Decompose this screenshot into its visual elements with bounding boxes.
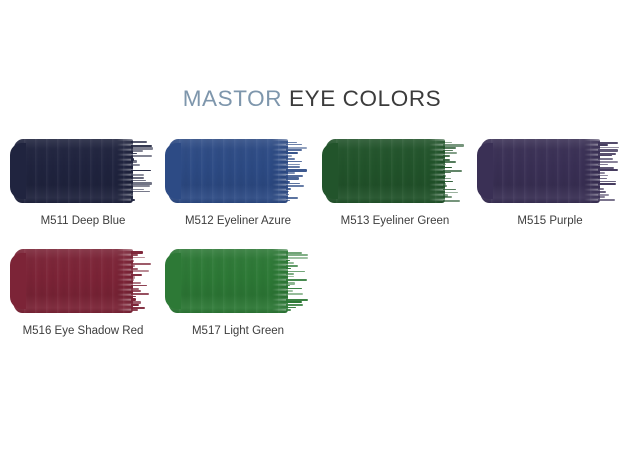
swatch-row: M516 Eye Shadow RedM517 Light Green: [0, 249, 624, 359]
paint-stroke-body: [325, 139, 445, 203]
swatch-label: M517 Light Green: [160, 325, 316, 339]
swatch-grid: M511 Deep BlueM512 Eyeliner AzureM513 Ey…: [0, 139, 624, 359]
paint-stroke-body: [480, 139, 600, 203]
brush-bristle-streaks: [286, 139, 310, 203]
paint-stroke-body: [168, 139, 288, 203]
paint-stroke: [13, 139, 153, 203]
paint-stroke: [13, 249, 153, 313]
paint-stroke-body: [168, 249, 288, 313]
color-chart-page: MASTOR EYE COLORS M511 Deep BlueM512 Eye…: [0, 0, 624, 460]
brush-bristle-streaks: [131, 139, 155, 203]
paint-stroke: [168, 249, 308, 313]
color-swatch-m513[interactable]: M513 Eyeliner Green: [317, 139, 473, 249]
swatch-label: M515 Purple: [472, 215, 624, 229]
swatch-row: M511 Deep BlueM512 Eyeliner AzureM513 Ey…: [0, 139, 624, 249]
paint-stroke: [325, 139, 465, 203]
swatch-label: M516 Eye Shadow Red: [5, 325, 161, 339]
paint-stroke: [480, 139, 620, 203]
paint-stroke-body: [13, 139, 133, 203]
brand-name: MASTOR: [183, 86, 282, 111]
title-suffix: EYE COLORS: [282, 86, 441, 111]
brush-bristle-streaks: [286, 249, 310, 313]
paint-stroke: [168, 139, 308, 203]
page-title: MASTOR EYE COLORS: [0, 88, 624, 111]
color-swatch-m511[interactable]: M511 Deep Blue: [5, 139, 161, 249]
color-swatch-m512[interactable]: M512 Eyeliner Azure: [160, 139, 316, 249]
swatch-label: M513 Eyeliner Green: [317, 215, 473, 229]
color-swatch-m515[interactable]: M515 Purple: [472, 139, 624, 249]
paint-stroke-body: [13, 249, 133, 313]
swatch-label: M511 Deep Blue: [5, 215, 161, 229]
brush-bristle-streaks: [131, 249, 155, 313]
brush-bristle-streaks: [443, 139, 467, 203]
color-swatch-m517[interactable]: M517 Light Green: [160, 249, 316, 359]
color-swatch-m516[interactable]: M516 Eye Shadow Red: [5, 249, 161, 359]
swatch-label: M512 Eyeliner Azure: [160, 215, 316, 229]
brush-bristle-streaks: [598, 139, 622, 203]
